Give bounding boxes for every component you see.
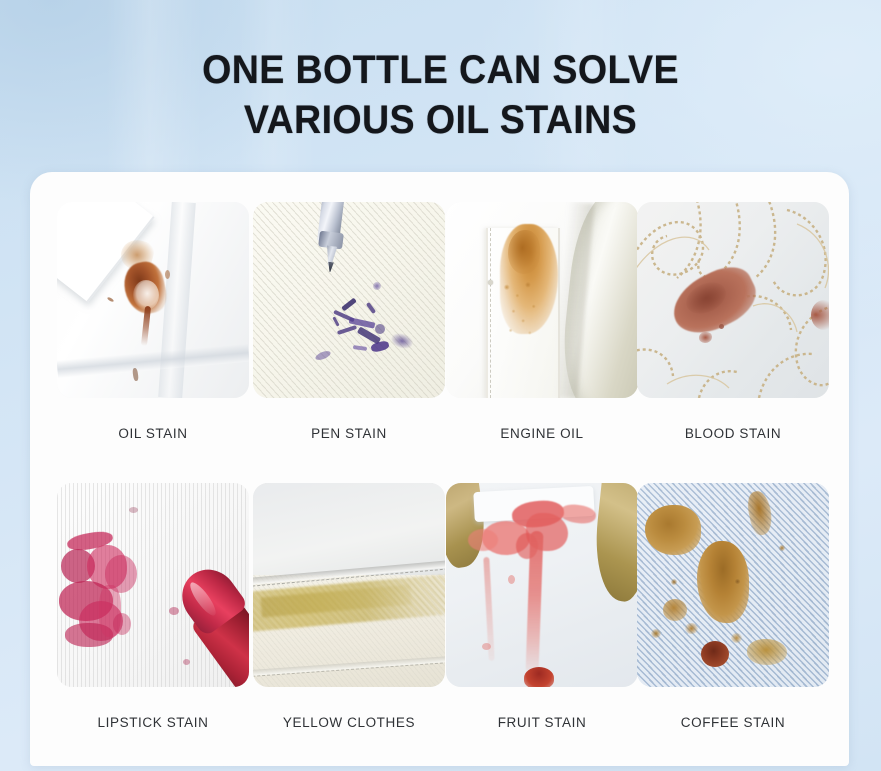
coffee-speck-shape (685, 623, 698, 634)
stain-cell-blood-stain[interactable]: BLOOD STAIN (637, 194, 829, 472)
lipstick-fleck-shape (183, 659, 190, 665)
stain-caption-blood-stain: BLOOD STAIN (637, 426, 829, 441)
stain-caption-lipstick-stain: LIPSTICK STAIN (57, 715, 249, 730)
stain-cell-engine-oil[interactable]: ENGINE OIL (446, 194, 638, 472)
oil-stain-photo[interactable] (57, 202, 249, 398)
fruit-juice-droplet-shape (508, 575, 515, 584)
ink-spray-shape (314, 349, 331, 361)
stain-cell-pen-stain[interactable]: PEN STAIN (253, 194, 445, 472)
yellow-clothes-photo[interactable] (253, 483, 445, 687)
coffee-droplet-shape (747, 639, 787, 665)
coffee-droplet-shape (701, 641, 729, 667)
pen-stain-photo[interactable] (253, 202, 445, 398)
lipstick-stain-photo[interactable] (57, 483, 249, 687)
fruit-piece-shape (524, 667, 554, 687)
coffee-speck-shape (735, 579, 740, 584)
fabric-fold-shape (57, 344, 249, 379)
engine-oil-speckle-shape (502, 280, 550, 340)
pen-tip-shape (326, 262, 334, 273)
coffee-splash-shape (645, 505, 701, 555)
blood-stain-photo[interactable] (637, 202, 829, 398)
promo-banner: ONE BOTTLE CAN SOLVE VARIOUS OIL STAINS (0, 0, 881, 771)
oil-fleck-shape (165, 270, 170, 279)
stain-cell-fruit-stain[interactable]: FRUIT STAIN (446, 475, 638, 753)
shirt-button-shape (488, 280, 493, 285)
stain-cell-yellow-clothes[interactable]: YELLOW CLOTHES (253, 475, 445, 753)
stain-caption-fruit-stain: FRUIT STAIN (446, 715, 638, 730)
coffee-speck-shape (731, 633, 742, 643)
lipstick-fleck-shape (129, 507, 138, 513)
stain-grid-row-1: OIL STAIN (30, 194, 849, 472)
ink-spray-shape (373, 282, 381, 290)
stain-caption-oil-stain: OIL STAIN (57, 426, 249, 441)
coffee-speck-shape (779, 545, 785, 551)
ink-scribble-shape (331, 298, 393, 356)
stain-caption-yellow-clothes: YELLOW CLOTHES (253, 715, 445, 730)
stain-cell-oil-stain[interactable]: OIL STAIN (57, 194, 249, 472)
page-title: ONE BOTTLE CAN SOLVE VARIOUS OIL STAINS (26, 45, 854, 145)
lipstick-fleck-shape (169, 607, 179, 615)
fruit-stain-photo[interactable] (446, 483, 638, 687)
blood-droplet-shape (719, 324, 724, 329)
coffee-splash-shape (745, 489, 776, 537)
stain-cell-lipstick-stain[interactable]: LIPSTICK STAIN (57, 475, 249, 753)
stain-cell-coffee-stain[interactable]: COFFEE STAIN (637, 475, 829, 753)
fruit-juice-droplet-shape (482, 643, 491, 650)
stain-caption-engine-oil: ENGINE OIL (446, 426, 638, 441)
coffee-droplet-shape (663, 599, 687, 621)
stain-gallery-card: OIL STAIN (30, 172, 849, 766)
coffee-splash-shape (697, 541, 749, 623)
coffee-speck-shape (651, 629, 661, 638)
stain-grid-row-2: LIPSTICK STAIN YELLOW CLOTHES (30, 475, 849, 753)
oil-fleck-shape (107, 296, 115, 302)
fabric-upper-panel-shape (253, 483, 445, 575)
ink-spray-shape (389, 331, 414, 351)
engine-oil-core-shape (508, 230, 540, 274)
coffee-stain-photo[interactable] (637, 483, 829, 687)
coffee-speck-shape (671, 579, 677, 585)
stain-caption-pen-stain: PEN STAIN (253, 426, 445, 441)
engine-oil-photo[interactable] (446, 202, 638, 398)
page-title-line-2: VARIOUS OIL STAINS (26, 95, 854, 145)
pocket-stitch-line (490, 228, 491, 398)
lipstick-smear-shape (59, 527, 163, 655)
stain-caption-coffee-stain: COFFEE STAIN (637, 715, 829, 730)
page-title-line-1: ONE BOTTLE CAN SOLVE (26, 45, 854, 95)
